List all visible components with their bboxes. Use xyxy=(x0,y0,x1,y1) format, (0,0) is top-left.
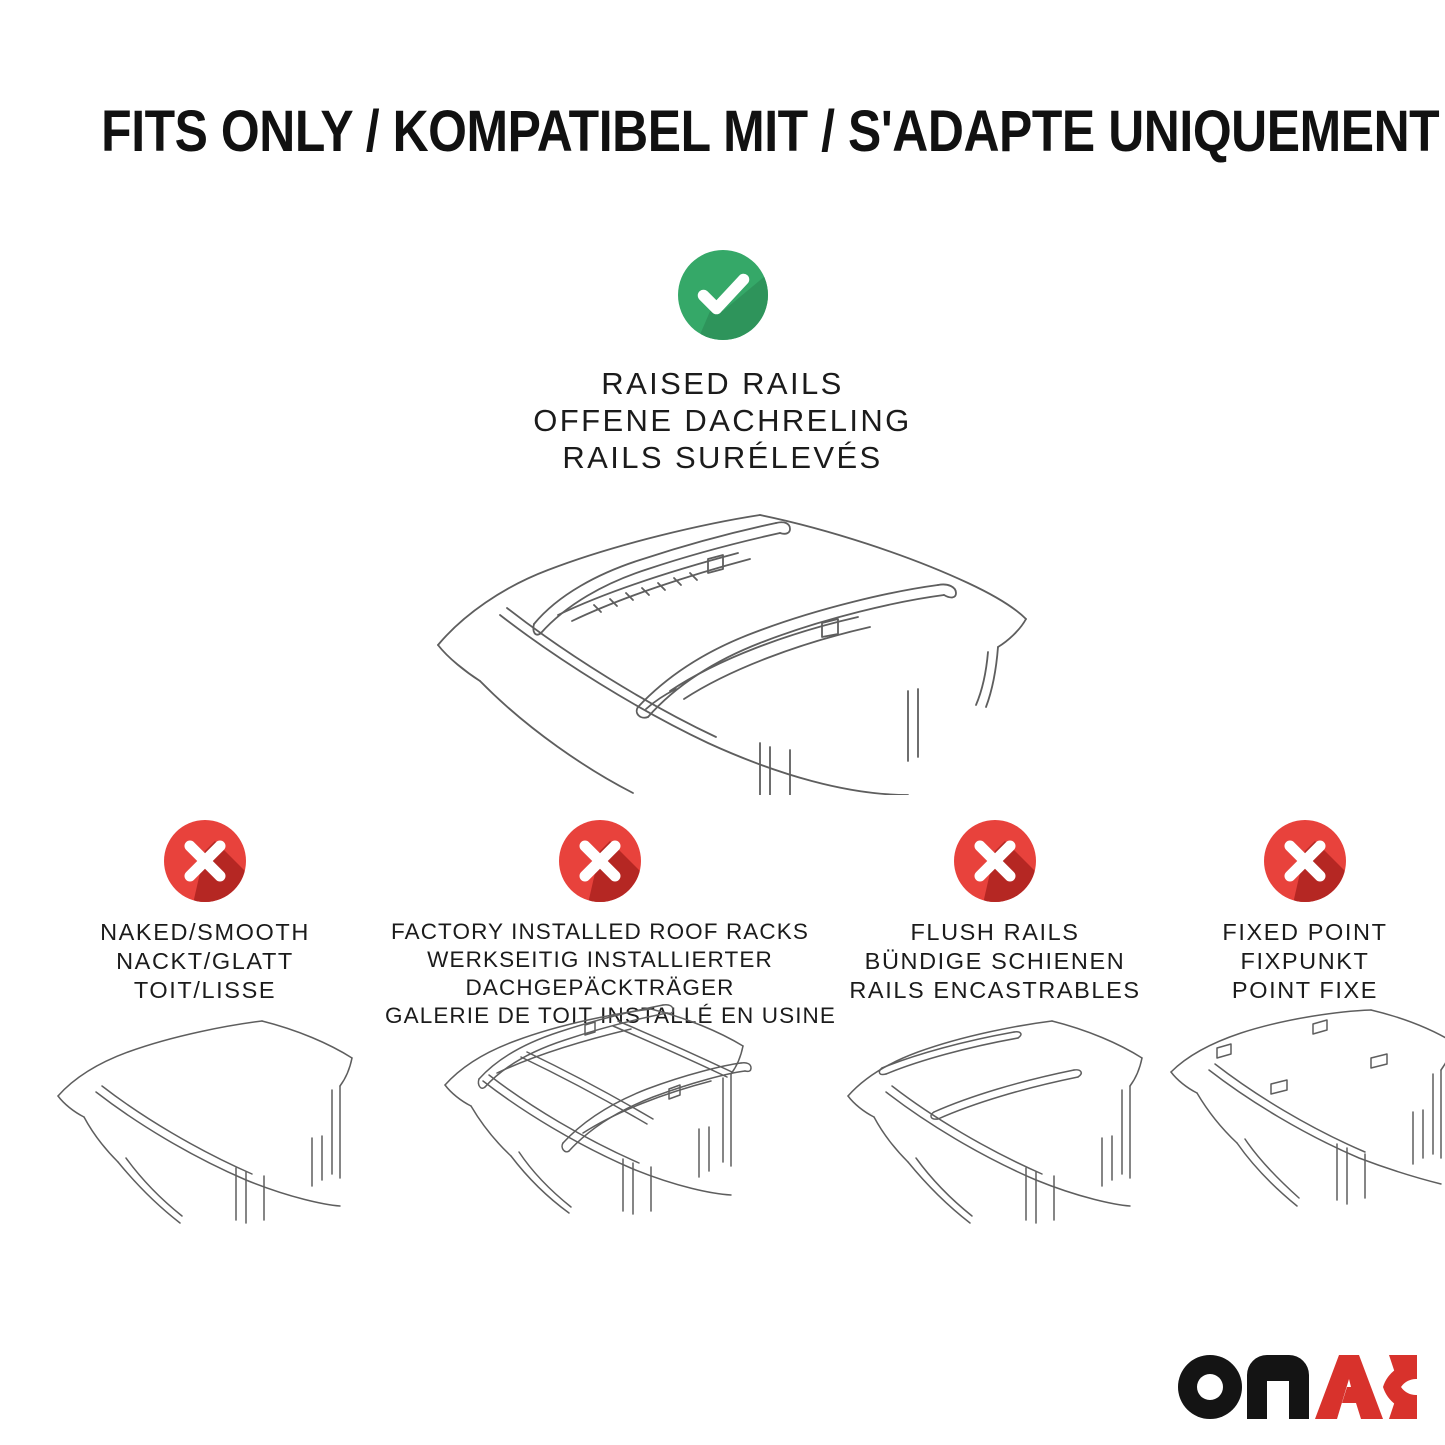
logo-letter-c xyxy=(1383,1355,1417,1419)
logo-letter-a xyxy=(1315,1355,1383,1419)
incompatible-label-naked-smooth: NAKED/SMOOTH NACKT/GLATT TOIT/LISSE xyxy=(40,918,370,1005)
car-roof-fixed-point-illustration xyxy=(1165,1008,1445,1233)
label-line-en: FLUSH RAILS xyxy=(830,918,1160,947)
compatible-label: RAISED RAILS OFFENE DACHRELING RAILS SUR… xyxy=(0,365,1445,476)
fitment-compatibility-infographic: FITS ONLY / KOMPATIBEL MIT / S'ADAPTE UN… xyxy=(0,0,1445,1445)
label-line-en: FIXED POINT xyxy=(1165,918,1445,947)
label-line-en: NAKED/SMOOTH xyxy=(40,918,370,947)
green-check-circle-icon xyxy=(676,248,770,347)
compatible-label-fr: RAILS SURÉLEVÉS xyxy=(0,439,1445,476)
incompatible-item-fixed-point: FIXED POINT FIXPUNKT POINT FIXE xyxy=(1165,818,1445,1005)
label-line-de1: WERKSEITIG INSTALLIERTER xyxy=(385,946,815,974)
red-x-circle-icon xyxy=(557,818,643,909)
omac-logo xyxy=(1177,1351,1417,1423)
red-x-circle-icon xyxy=(162,818,248,909)
incompatible-item-naked-smooth: NAKED/SMOOTH NACKT/GLATT TOIT/LISSE xyxy=(40,818,370,1005)
red-x-circle-icon xyxy=(1262,818,1348,909)
incompatible-label-flush-rails: FLUSH RAILS BÜNDIGE SCHIENEN RAILS ENCAS… xyxy=(830,918,1160,1005)
label-line-fr: TOIT/LISSE xyxy=(40,976,370,1005)
label-line-fr: POINT FIXE xyxy=(1165,976,1445,1005)
compatible-label-en: RAISED RAILS xyxy=(0,365,1445,402)
car-roof-flush-rails-illustration xyxy=(830,1008,1160,1233)
label-line-de: BÜNDIGE SCHIENEN xyxy=(830,947,1160,976)
car-roof-raised-rails-illustration xyxy=(408,495,1038,795)
logo-letter-m xyxy=(1247,1355,1309,1419)
label-line-fr: RAILS ENCASTRABLES xyxy=(830,976,1160,1005)
incompatible-label-fixed-point: FIXED POINT FIXPUNKT POINT FIXE xyxy=(1165,918,1445,1005)
logo-letter-o xyxy=(1178,1355,1242,1419)
label-line-de: NACKT/GLATT xyxy=(40,947,370,976)
label-line-en: FACTORY INSTALLED ROOF RACKS xyxy=(385,918,815,946)
car-roof-factory-racks-illustration xyxy=(385,993,815,1238)
page-title: FITS ONLY / KOMPATIBEL MIT / S'ADAPTE UN… xyxy=(101,100,1344,164)
label-line-de: FIXPUNKT xyxy=(1165,947,1445,976)
compatible-label-de: OFFENE DACHRELING xyxy=(0,402,1445,439)
incompatible-section: NAKED/SMOOTH NACKT/GLATT TOIT/LISSE xyxy=(0,818,1445,1268)
car-roof-naked-smooth-illustration xyxy=(40,1008,370,1233)
incompatible-item-factory-racks: FACTORY INSTALLED ROOF RACKS WERKSEITIG … xyxy=(385,818,815,1030)
red-x-circle-icon xyxy=(952,818,1038,909)
compatible-section: RAISED RAILS OFFENE DACHRELING RAILS SUR… xyxy=(0,248,1445,476)
incompatible-item-flush-rails: FLUSH RAILS BÜNDIGE SCHIENEN RAILS ENCAS… xyxy=(830,818,1160,1005)
